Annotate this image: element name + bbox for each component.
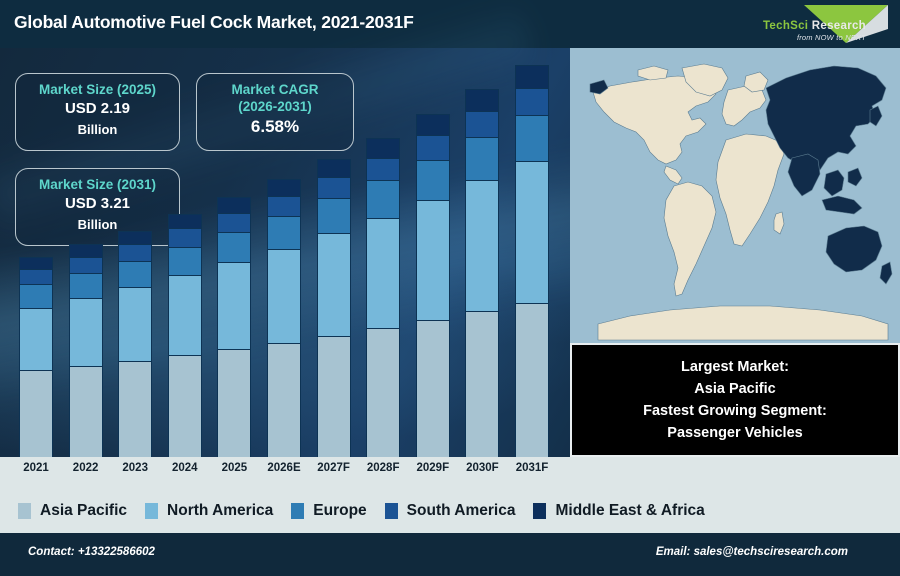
- page-title: Global Automotive Fuel Cock Market, 2021…: [14, 12, 414, 33]
- legend-swatch-icon: [291, 503, 304, 519]
- bar-segment: [217, 262, 251, 349]
- bar-segment: [19, 308, 53, 371]
- bar-segment: [416, 200, 450, 320]
- logo-techsci: TechSci: [763, 20, 808, 32]
- bar-segment: [19, 269, 53, 283]
- logo-tagline: from NOW to NEXT: [797, 33, 866, 42]
- bar-segment: [515, 303, 549, 457]
- legend-item[interactable]: Asia Pacific: [18, 502, 127, 520]
- bar-segment: [366, 158, 400, 181]
- bar-segment: [19, 284, 53, 308]
- bar-segment: [118, 261, 152, 287]
- callout-line-2: Asia Pacific: [694, 378, 775, 400]
- bar-segment: [118, 244, 152, 261]
- bar-segment: [19, 370, 53, 457]
- legend-item[interactable]: South America: [385, 502, 516, 520]
- bar-segment: [465, 311, 499, 457]
- infographic-root: Global Automotive Fuel Cock Market, 2021…: [0, 0, 900, 576]
- bar-segment: [416, 135, 450, 160]
- legend-label: South America: [407, 502, 516, 520]
- bar-segment: [267, 249, 301, 343]
- bar-segment: [366, 138, 400, 157]
- bar-segment: [267, 196, 301, 216]
- header-bar: Global Automotive Fuel Cock Market, 2021…: [0, 0, 900, 48]
- bar-column: [366, 138, 400, 457]
- bar-segment: [267, 343, 301, 457]
- bar-segment: [168, 355, 202, 457]
- bar-segment: [168, 247, 202, 276]
- bar-column: [118, 231, 152, 457]
- bar-segment: [118, 287, 152, 360]
- bar-segment: [168, 228, 202, 246]
- chart-legend: Asia PacificNorth AmericaEuropeSouth Ame…: [0, 488, 900, 533]
- bar-segment: [69, 298, 103, 365]
- bar-segment: [465, 137, 499, 180]
- world-map-svg: [570, 48, 900, 343]
- bar-segment: [69, 273, 103, 298]
- bar-segment: [168, 214, 202, 228]
- bar-segment: [69, 244, 103, 257]
- bar-column: [515, 65, 549, 457]
- legend-item[interactable]: Middle East & Africa: [533, 502, 704, 520]
- legend-swatch-icon: [145, 503, 158, 519]
- stacked-bar-chart: [0, 48, 568, 457]
- bar-segment: [118, 361, 152, 457]
- legend-label: Europe: [313, 502, 366, 520]
- bar-segment: [317, 198, 351, 233]
- bar-column: [267, 179, 301, 457]
- world-map: [570, 48, 900, 343]
- legend-swatch-icon: [18, 503, 31, 519]
- footer-email: Email: sales@techsciresearch.com: [656, 546, 848, 558]
- bar-segment: [317, 159, 351, 177]
- bar-segment: [267, 179, 301, 196]
- bar-column: [69, 244, 103, 457]
- bar-segment: [416, 320, 450, 457]
- techsci-research-logo: TechSci Research from NOW to NEXT: [702, 3, 892, 46]
- callout-line-4: Passenger Vehicles: [667, 422, 802, 444]
- bar-column: [416, 114, 450, 457]
- bar-segment: [515, 88, 549, 116]
- bar-segment: [168, 275, 202, 354]
- bar-segment: [515, 115, 549, 161]
- bar-segment: [217, 349, 251, 457]
- legend-label: Middle East & Africa: [555, 502, 704, 520]
- legend-item[interactable]: Europe: [291, 502, 366, 520]
- bar-segment: [69, 257, 103, 273]
- bar-segment: [366, 218, 400, 329]
- legend-label: North America: [167, 502, 273, 520]
- legend-label: Asia Pacific: [40, 502, 127, 520]
- market-callout-box: Largest Market: Asia Pacific Fastest Gro…: [570, 343, 900, 457]
- bar-column: [168, 214, 202, 457]
- bar-segment: [317, 233, 351, 335]
- logo-research: Research: [808, 20, 866, 32]
- bar-column: [217, 197, 251, 457]
- bar-segment: [317, 177, 351, 199]
- callout-line-3: Fastest Growing Segment:: [643, 400, 827, 422]
- bar-segment: [515, 65, 549, 88]
- bar-segment: [465, 111, 499, 137]
- bar-segment: [19, 257, 53, 269]
- bar-segment: [267, 216, 301, 248]
- footer-contact: Contact: +13322586602: [28, 546, 155, 558]
- bar-segment: [217, 197, 251, 213]
- legend-swatch-icon: [385, 503, 398, 519]
- bar-segment: [118, 231, 152, 244]
- bar-segment: [366, 180, 400, 217]
- legend-item[interactable]: North America: [145, 502, 273, 520]
- x-axis-tick-label: 2031F: [503, 462, 561, 474]
- bar-segment: [465, 89, 499, 111]
- logo-wordmark: TechSci Research: [763, 20, 866, 32]
- bar-segment: [416, 114, 450, 134]
- bar-segment: [416, 160, 450, 200]
- legend-swatch-icon: [533, 503, 546, 519]
- bar-column: [465, 89, 499, 457]
- bar-segment: [515, 161, 549, 303]
- bar-segment: [217, 213, 251, 232]
- bar-segment: [317, 336, 351, 457]
- callout-line-1: Largest Market:: [681, 356, 789, 378]
- bar-segment: [69, 366, 103, 457]
- bar-segment: [465, 180, 499, 311]
- bar-column: [19, 257, 53, 457]
- bar-segment: [366, 328, 400, 457]
- bar-column: [317, 159, 351, 457]
- bar-segment: [217, 232, 251, 262]
- footer-bar: Contact: +13322586602 Email: sales@techs…: [0, 533, 900, 576]
